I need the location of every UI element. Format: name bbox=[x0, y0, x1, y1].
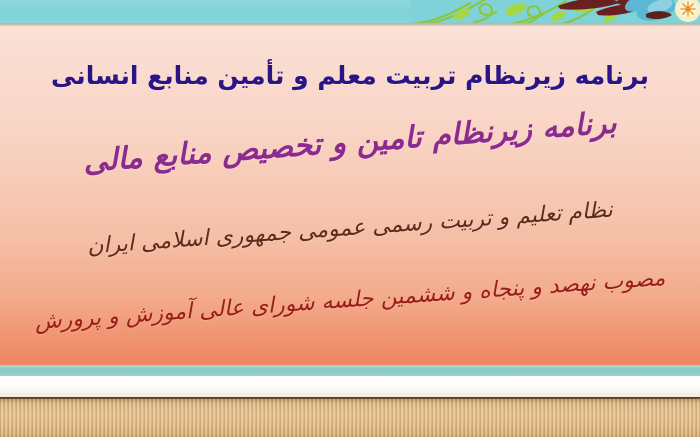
title-line-financial-resources-subsystem: برنامه زیرنظام تامین و تخصیص منابع مالی bbox=[0, 100, 700, 186]
presentation-slide: برنامه زیرنظام تربیت معلم و تأمین منابع … bbox=[0, 0, 700, 437]
bottom-wood-texture-band bbox=[0, 397, 700, 437]
title-line-program-teacher-training: برنامه زیرنظام تربیت معلم و تأمین منابع … bbox=[0, 62, 700, 91]
bottom-white-band bbox=[0, 376, 700, 397]
subtitle-line-formal-education-system: نظام تعلیم و تربیت رسمی عمومی جمهوری اسل… bbox=[0, 192, 700, 266]
floral-ornament-svg bbox=[410, 0, 700, 23]
wood-band-top-edge bbox=[0, 397, 700, 399]
bottom-teal-band bbox=[0, 365, 700, 376]
top-right-floral-ornament bbox=[410, 0, 700, 23]
top-decorative-band bbox=[0, 0, 700, 23]
subtitle-line-council-approval: مصوب نهصد و پنجاه و ششمین جلسه شورای عال… bbox=[0, 264, 700, 338]
slide-text-block: برنامه زیرنظام تربیت معلم و تأمین منابع … bbox=[0, 26, 700, 365]
